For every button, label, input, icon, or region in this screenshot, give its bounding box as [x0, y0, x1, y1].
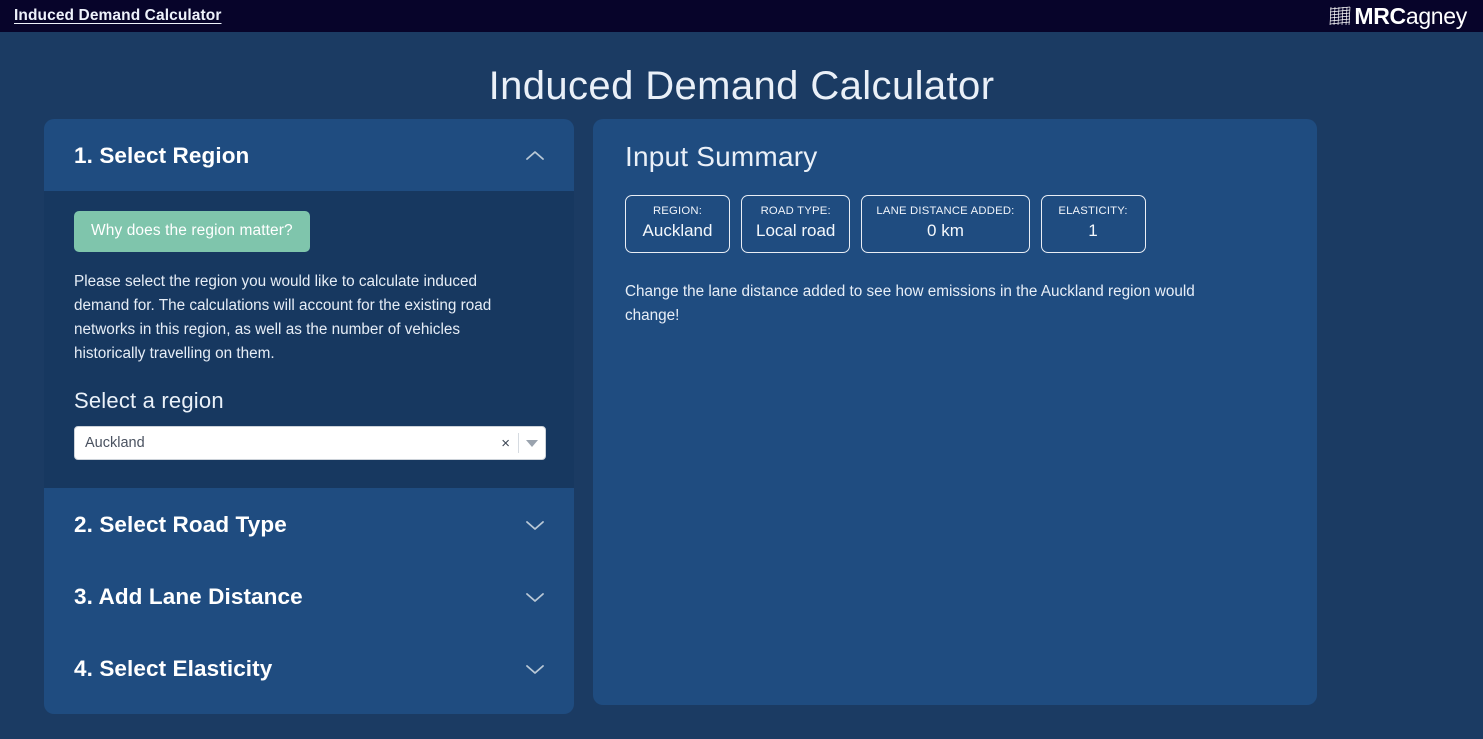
summary-card-value: 1	[1056, 221, 1131, 241]
region-select[interactable]: Auckland ×	[74, 426, 546, 460]
chevron-down-icon[interactable]	[524, 590, 546, 604]
accordion-header-add-lane-distance[interactable]: 3. Add Lane Distance	[44, 560, 574, 632]
mesh-logo-icon	[1329, 6, 1351, 26]
accordion-title-1: 1. Select Region	[74, 143, 249, 169]
summary-card-value: Local road	[756, 221, 835, 241]
summary-card-label: LANE DISTANCE ADDED:	[876, 205, 1014, 217]
summary-cards: REGION: Auckland ROAD TYPE: Local road L…	[621, 195, 1289, 253]
summary-title: Input Summary	[621, 141, 1289, 173]
chevron-down-icon[interactable]	[524, 662, 546, 676]
input-steps-panel: 1. Select Region Why does the region mat…	[44, 119, 574, 714]
mrcagney-logo[interactable]: MRCagney	[1329, 5, 1471, 28]
chevron-up-icon[interactable]	[524, 149, 546, 163]
logo-text-bold: MRC	[1354, 3, 1405, 29]
accordion-body-select-region: Why does the region matter? Please selec…	[44, 191, 574, 488]
chevron-down-icon[interactable]	[524, 518, 546, 532]
region-select-value: Auckland	[85, 435, 493, 451]
summary-card-label: REGION:	[640, 205, 715, 217]
accordion-header-select-road-type[interactable]: 2. Select Road Type	[44, 488, 574, 560]
logo-text-light: agney	[1406, 3, 1467, 29]
top-navbar: Induced Demand Calculator MRCagney	[0, 0, 1483, 32]
summary-card-value: Auckland	[640, 221, 715, 241]
accordion-title-4: 4. Select Elasticity	[74, 656, 272, 682]
navbar-brand-link[interactable]: Induced Demand Calculator	[14, 7, 221, 25]
accordion-title-3: 3. Add Lane Distance	[74, 584, 303, 610]
summary-card-label: ELASTICITY:	[1056, 205, 1131, 217]
accordion-header-select-elasticity[interactable]: 4. Select Elasticity	[44, 632, 574, 704]
logo-wordmark: MRCagney	[1354, 5, 1467, 28]
input-summary-panel: Input Summary REGION: Auckland ROAD TYPE…	[593, 119, 1317, 705]
main-layout: 1. Select Region Why does the region mat…	[0, 119, 1483, 714]
accordion-header-select-region[interactable]: 1. Select Region	[44, 119, 574, 191]
summary-card-label: ROAD TYPE:	[756, 205, 835, 217]
summary-card-lane-distance: LANE DISTANCE ADDED: 0 km	[861, 195, 1029, 253]
summary-note-text: Change the lane distance added to see ho…	[621, 280, 1221, 328]
accordion-title-2: 2. Select Road Type	[74, 512, 287, 538]
close-icon[interactable]: ×	[493, 436, 518, 451]
caret-down-icon[interactable]	[519, 440, 545, 447]
summary-card-region: REGION: Auckland	[625, 195, 730, 253]
select-region-label: Select a region	[74, 388, 546, 414]
summary-card-elasticity: ELASTICITY: 1	[1041, 195, 1146, 253]
why-region-matters-button[interactable]: Why does the region matter?	[74, 211, 310, 252]
summary-card-road-type: ROAD TYPE: Local road	[741, 195, 850, 253]
region-description-text: Please select the region you would like …	[74, 270, 519, 366]
summary-card-value: 0 km	[876, 221, 1014, 241]
page-title: Induced Demand Calculator	[0, 32, 1483, 119]
